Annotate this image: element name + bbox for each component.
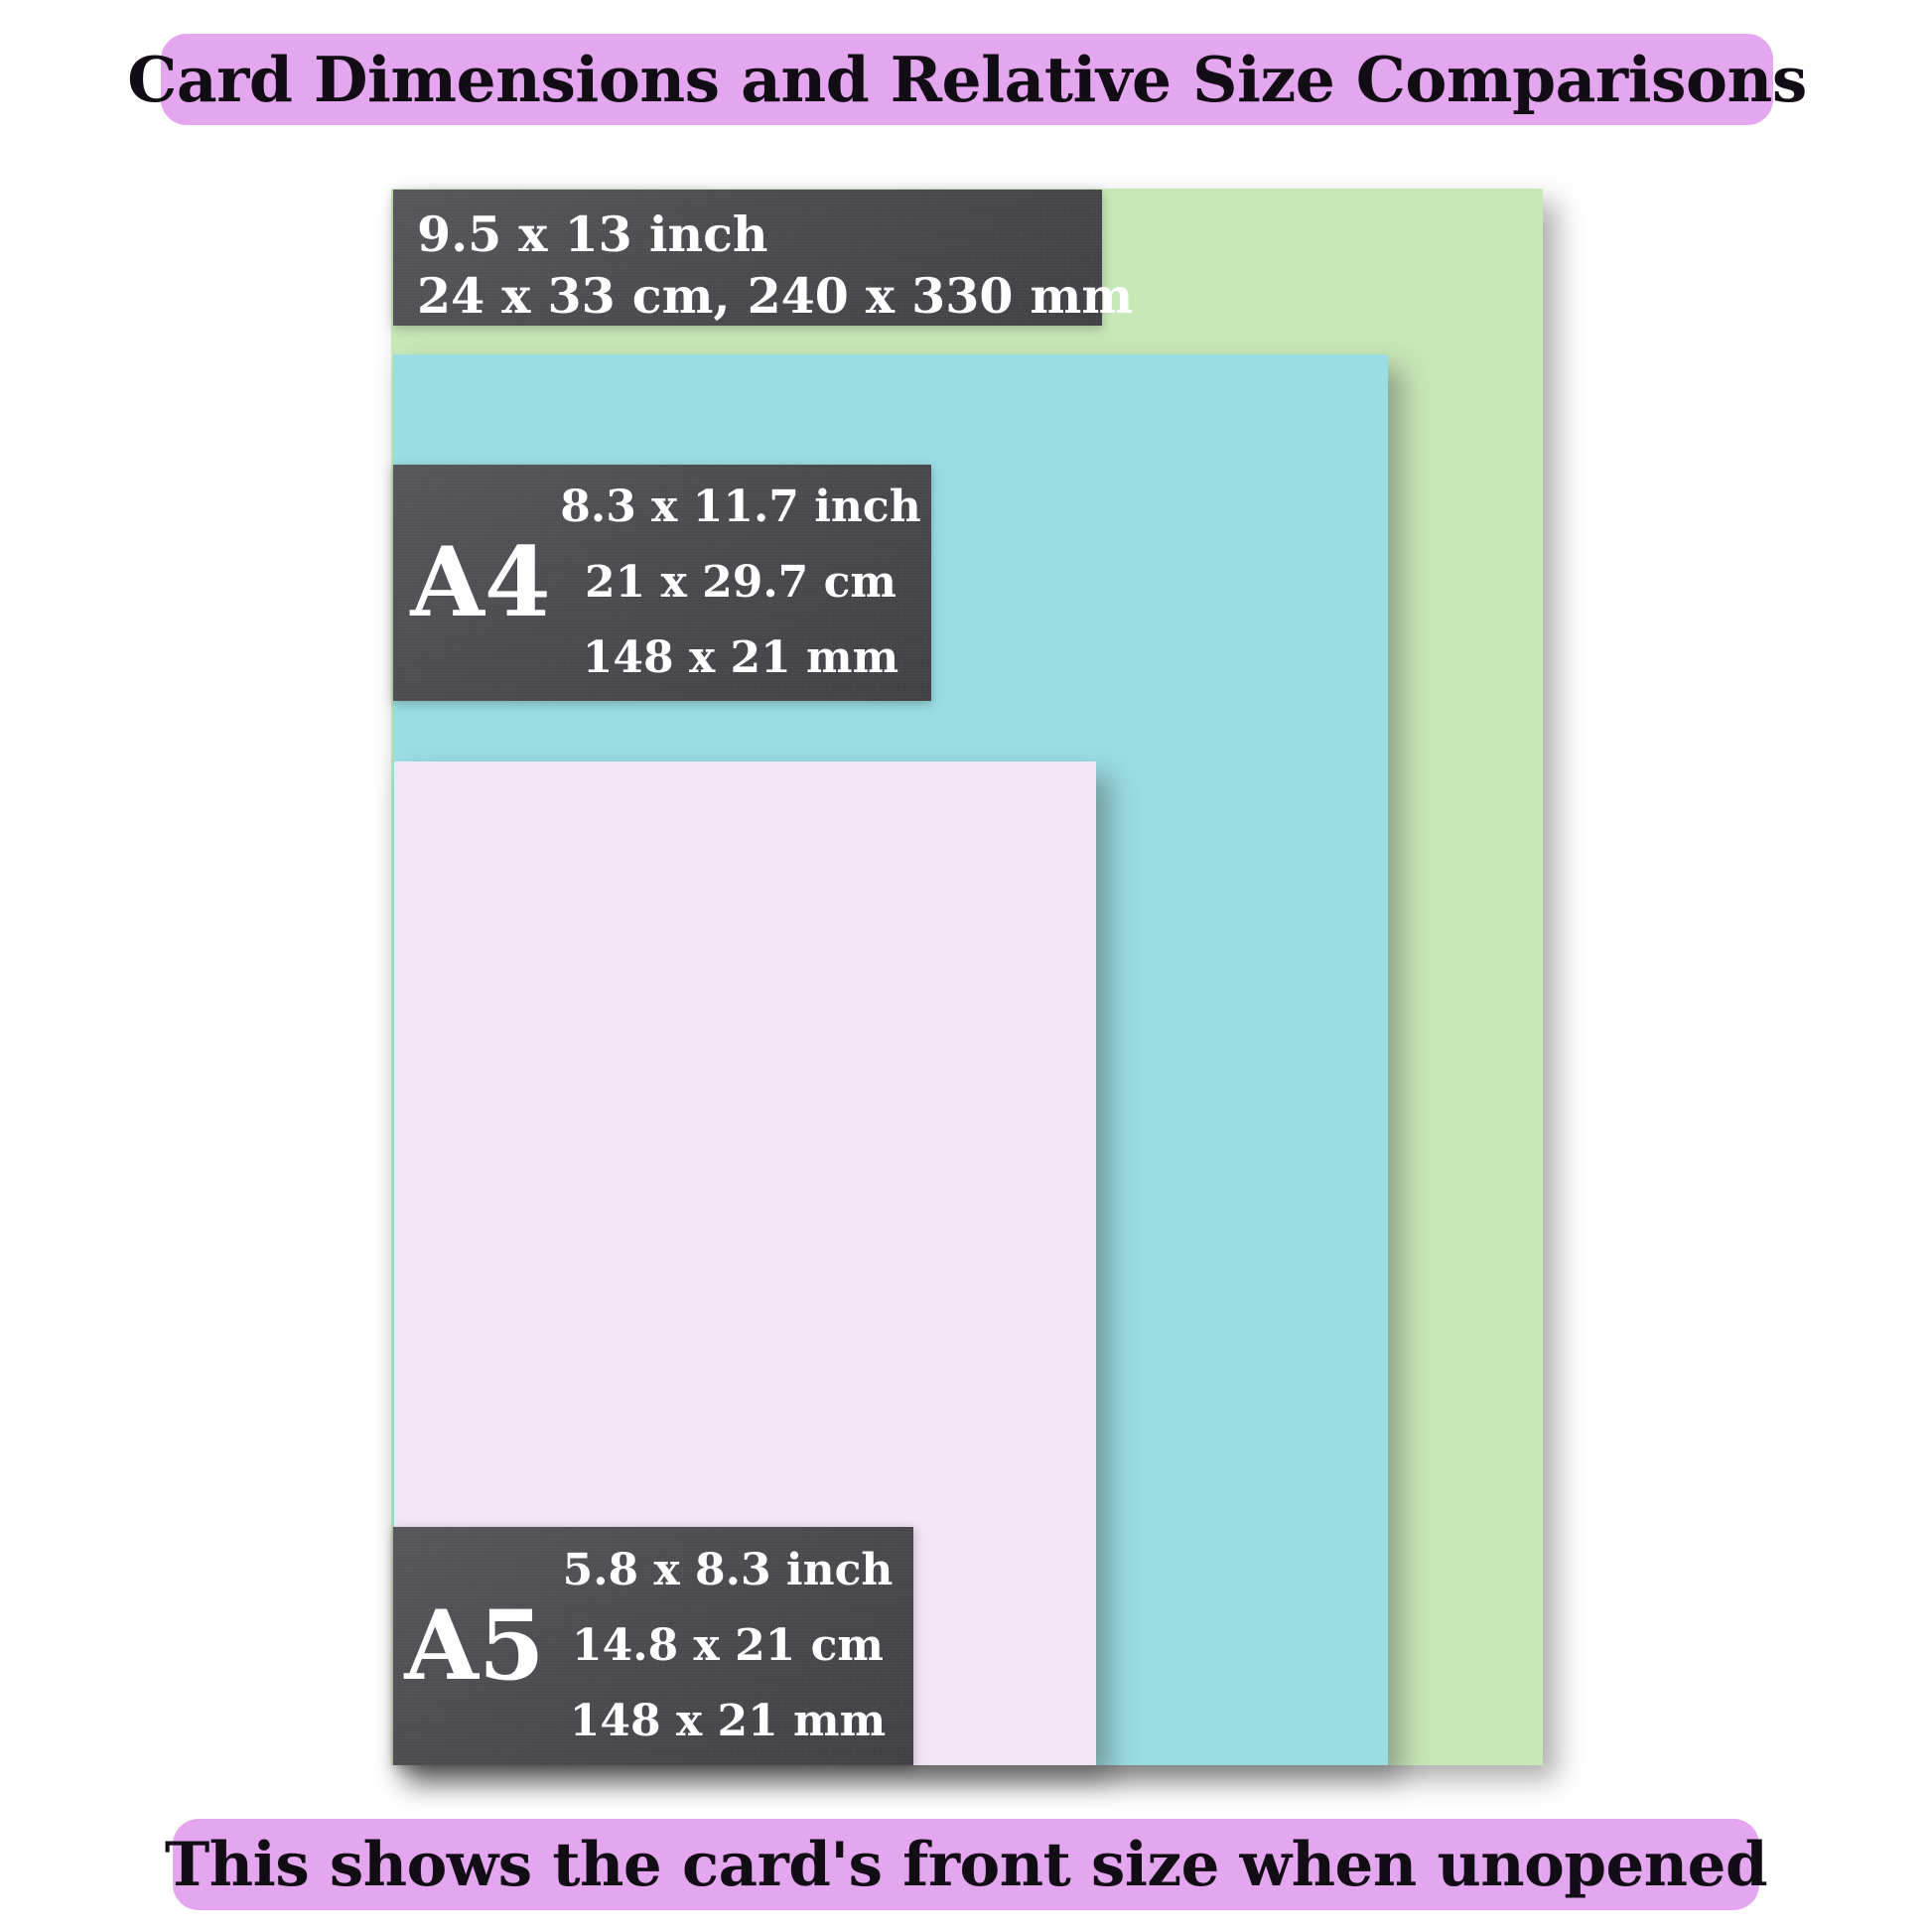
a4-inch-line: 8.3 x 11.7 inch: [560, 470, 920, 545]
a4-dimension-label: A4 8.3 x 11.7 inch 21 x 29.7 cm 148 x 21…: [393, 465, 931, 701]
a5-measurement-lines: 5.8 x 8.3 inch 14.8 x 21 cm 148 x 21 mm: [552, 1533, 903, 1759]
a4-size-code: A4: [393, 535, 560, 630]
a5-mm-line: 148 x 21 mm: [570, 1684, 886, 1759]
footer-banner-text: This shows the card's front size when un…: [165, 1830, 1767, 1900]
largest-sheet-metric-line: 24 x 33 cm, 240 x 330 mm: [417, 265, 1102, 327]
a4-mm-line: 148 x 21 mm: [583, 621, 898, 696]
title-banner-text: Card Dimensions and Relative Size Compar…: [127, 43, 1807, 116]
largest-sheet-inch-line: 9.5 x 13 inch: [417, 204, 1102, 265]
a5-cm-line: 14.8 x 21 cm: [572, 1608, 884, 1684]
a5-dimension-label: A5 5.8 x 8.3 inch 14.8 x 21 cm 148 x 21 …: [393, 1527, 913, 1765]
footer-banner: This shows the card's front size when un…: [173, 1819, 1759, 1910]
a4-measurement-lines: 8.3 x 11.7 inch 21 x 29.7 cm 148 x 21 mm: [560, 470, 921, 696]
largest-sheet-dimension-label: 9.5 x 13 inch 24 x 33 cm, 240 x 330 mm: [393, 190, 1102, 326]
a5-size-code: A5: [393, 1598, 552, 1694]
title-banner: Card Dimensions and Relative Size Compar…: [161, 34, 1773, 125]
a5-inch-line: 5.8 x 8.3 inch: [563, 1533, 894, 1608]
a4-cm-line: 21 x 29.7 cm: [585, 545, 897, 621]
